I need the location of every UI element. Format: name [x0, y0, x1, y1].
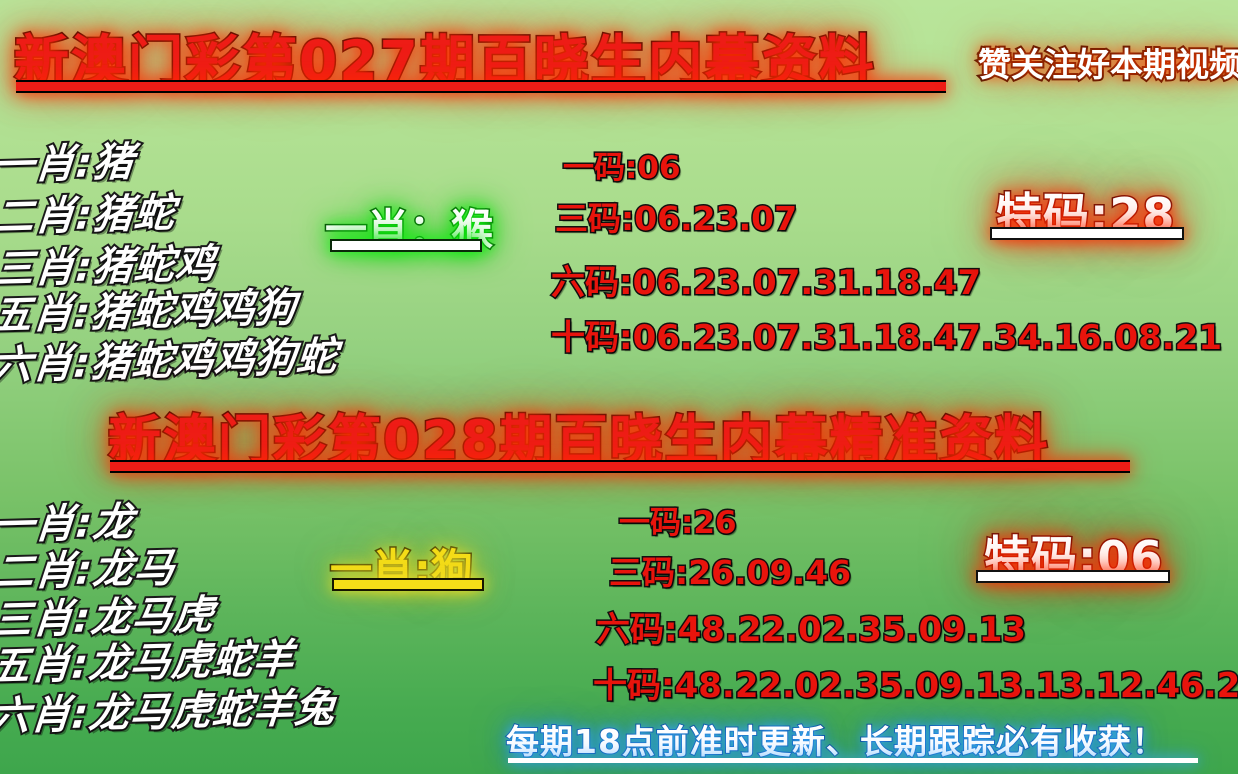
section-2-code-6: 六码:48.22.02.35.09.13: [596, 602, 1026, 651]
section-1-highlight-underline: [330, 239, 482, 252]
footer-banner-text: 每期18点前准时更新、长期跟踪必有收获！: [506, 715, 1166, 763]
section-2-code-10: 十码:48.22.02.35.09.13.13.12.46.26.03: [593, 658, 1238, 707]
section-1-code-6: 六码:06.23.07.31.18.47: [551, 255, 981, 304]
section-1-special-underline: [990, 227, 1184, 240]
footer-banner-underline: [508, 758, 1198, 763]
section-1-code-1: 一码:06: [563, 142, 681, 187]
section-2-zodiac-row-5: 六肖:龙马虎蛇羊兔: [0, 675, 338, 742]
section-1-code-3: 三码:06.23.07: [555, 192, 797, 240]
section-1-zodiac-row-5: 六肖:猪蛇鸡鸡狗蛇: [0, 324, 340, 391]
section-2-code-3: 三码:26.09.46: [609, 546, 851, 594]
section-1-title-underline: [16, 80, 946, 93]
section-2-code-1: 一码:26: [619, 497, 737, 542]
section-2-highlight-underline: [332, 578, 484, 591]
section-2-special-underline: [976, 570, 1170, 583]
section-1-code-10: 十码:06.23.07.31.18.47.34.16.08.21: [551, 310, 1222, 359]
promo-text: 赞关注好本期视频: [978, 38, 1238, 86]
section-2-title-underline: [110, 460, 1130, 473]
poster-canvas: 新澳门彩第027期百晓生内幕资料 赞关注好本期视频 一肖:猪 二肖:猪蛇 三肖:…: [0, 0, 1238, 774]
